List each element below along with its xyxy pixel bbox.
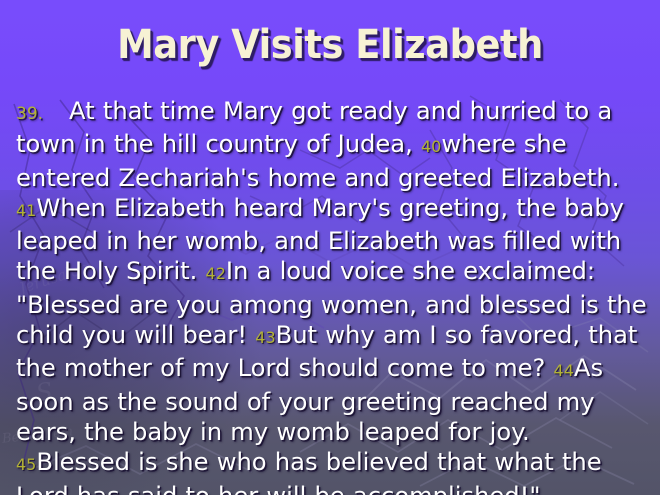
scripture-body: 39.At that time Mary got ready and hurri… bbox=[16, 96, 650, 495]
verse-number: 42 bbox=[206, 264, 226, 283]
slide-title: Mary Visits Elizabeth bbox=[26, 22, 633, 68]
verse-number: 45 bbox=[16, 455, 36, 474]
verse-number: 44 bbox=[554, 361, 574, 380]
presentation-slide: Jerusalem S Bethlehem Mary Visits Elizab… bbox=[0, 0, 660, 495]
scripture-text: Blessed is she who has believed that wha… bbox=[16, 448, 602, 495]
scripture-segments: At that time Mary got ready and hurried … bbox=[16, 97, 647, 495]
verse-number: 43 bbox=[255, 328, 275, 347]
verse-number: 40 bbox=[421, 137, 441, 156]
verse-number: 41 bbox=[16, 201, 36, 220]
lead-verse-number: 39. bbox=[16, 104, 43, 124]
